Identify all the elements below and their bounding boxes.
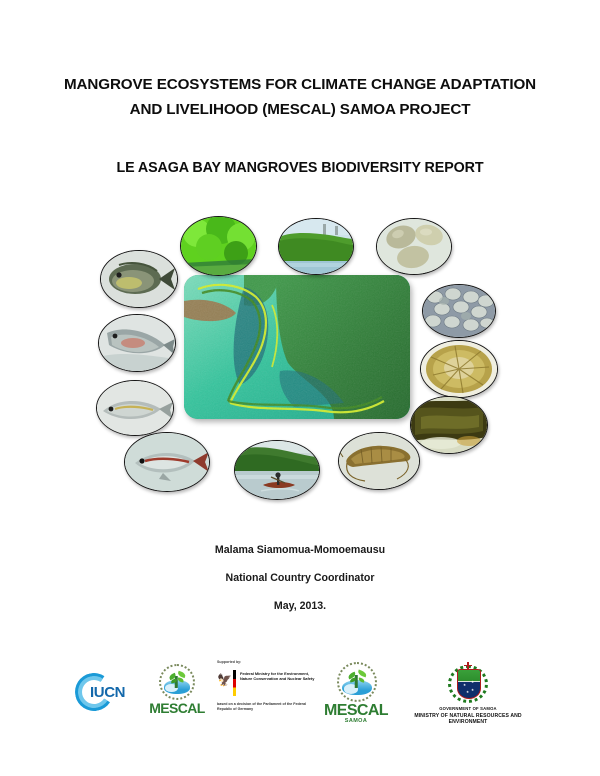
author-block: Malama Siamomua-Momoemausu National Coun…: [0, 544, 600, 612]
ministry-label: MINISTRY OF NATURAL RESOURCES AND ENVIRO…: [404, 713, 532, 725]
sea-cucumbers-graphic: [377, 219, 451, 274]
photo-fish-trevally: [96, 380, 174, 436]
publication-date: May, 2013.: [0, 600, 600, 612]
report-subtitle: LE ASAGA BAY MANGROVES BIODIVERSITY REPO…: [0, 160, 600, 176]
southern-cross-star: ★: [471, 689, 474, 693]
mangrove-canopy-graphic: [181, 217, 256, 275]
mangrove-shoreline-graphic: [279, 219, 353, 274]
mescal-wordmark: MESCAL: [146, 700, 208, 716]
photo-sea-cucumbers: [376, 218, 452, 275]
bivalve-shellfish-graphic: [423, 285, 495, 337]
photo-jellyfish: [420, 340, 498, 398]
photo-mangrove-canopy: [180, 216, 257, 276]
title-line-2: AND LIVELIHOOD (MESCAL) SAMOA PROJECT: [0, 97, 600, 122]
photo-collage: [80, 200, 520, 530]
author-name: Malama Siamomua-Momoemausu: [0, 544, 600, 556]
german-ministry-logo: Supported by: 🦅 Federal Ministry for the…: [217, 660, 321, 724]
government-label: GOVERNMENT OF SAMOA: [404, 706, 532, 711]
seaweed-graphic: [411, 397, 487, 453]
mescal-country-label: SAMOA: [320, 718, 392, 724]
photo-bivalve-shellfish: [422, 284, 496, 338]
rabbitfish-graphic: [101, 251, 177, 307]
photo-fish-rabbitfish: [100, 250, 178, 308]
prawn-graphic: [339, 433, 419, 489]
title-line-1: MANGROVE ECOSYSTEMS FOR CLIMATE CHANGE A…: [0, 72, 600, 97]
mescal-logo: MESCAL: [146, 664, 208, 724]
author-role: National Country Coordinator: [0, 572, 600, 584]
ministry-lockup: 🦅 Federal Ministry for the Environment, …: [217, 670, 321, 698]
silver-fish-graphic: [125, 433, 209, 491]
crest-shield-shape: ★ ★ ★ ★: [457, 669, 481, 699]
aerial-map-image: [184, 275, 410, 419]
photo-fish-mullet: [98, 314, 176, 372]
mescal-emblem-icon: [337, 662, 377, 702]
aerial-map-graphic: [184, 275, 410, 419]
iucn-wordmark: IUCN: [90, 684, 125, 701]
iucn-logo: IUCN: [75, 672, 141, 714]
page-title: MANGROVE ECOSYSTEMS FOR CLIMATE CHANGE A…: [0, 72, 600, 122]
german-flag-bar-icon: [233, 670, 236, 696]
photo-prawn-shrimp: [338, 432, 420, 490]
southern-cross-star: ★: [463, 684, 466, 688]
mescal-samoa-logo: MESCAL SAMOA: [320, 662, 392, 728]
samoa-government-logo: ★ ★ ★ ★ GOVERNMENT OF SAMOA MINISTRY OF …: [404, 662, 532, 724]
crest-palm-band-shape: [458, 670, 480, 682]
supported-by-label: Supported by:: [217, 660, 241, 664]
mescal-emblem-icon: [159, 664, 195, 700]
canoe-fishing-graphic: [235, 441, 319, 499]
ministry-name: Federal Ministry for the Environment, Na…: [240, 671, 320, 682]
photo-mangrove-stand-shoreline: [278, 218, 354, 275]
trevally-graphic: [97, 381, 173, 435]
southern-cross-star: ★: [466, 691, 469, 695]
samoa-crest-icon: ★ ★ ★ ★: [448, 662, 488, 704]
mullet-graphic: [99, 315, 175, 371]
jellyfish-graphic: [421, 341, 497, 397]
federal-eagle-icon: 🦅: [217, 673, 231, 689]
photo-seaweed-limu: [410, 396, 488, 454]
photo-canoe-fishing: [234, 440, 320, 500]
southern-cross-star: ★: [471, 681, 474, 685]
photo-fish-silver: [124, 432, 210, 492]
logo-row: IUCN MESCAL Supported by: 🦅 Federal Mini…: [0, 658, 600, 738]
ministry-footnote: based on a decision of the Parliament of…: [217, 702, 321, 712]
